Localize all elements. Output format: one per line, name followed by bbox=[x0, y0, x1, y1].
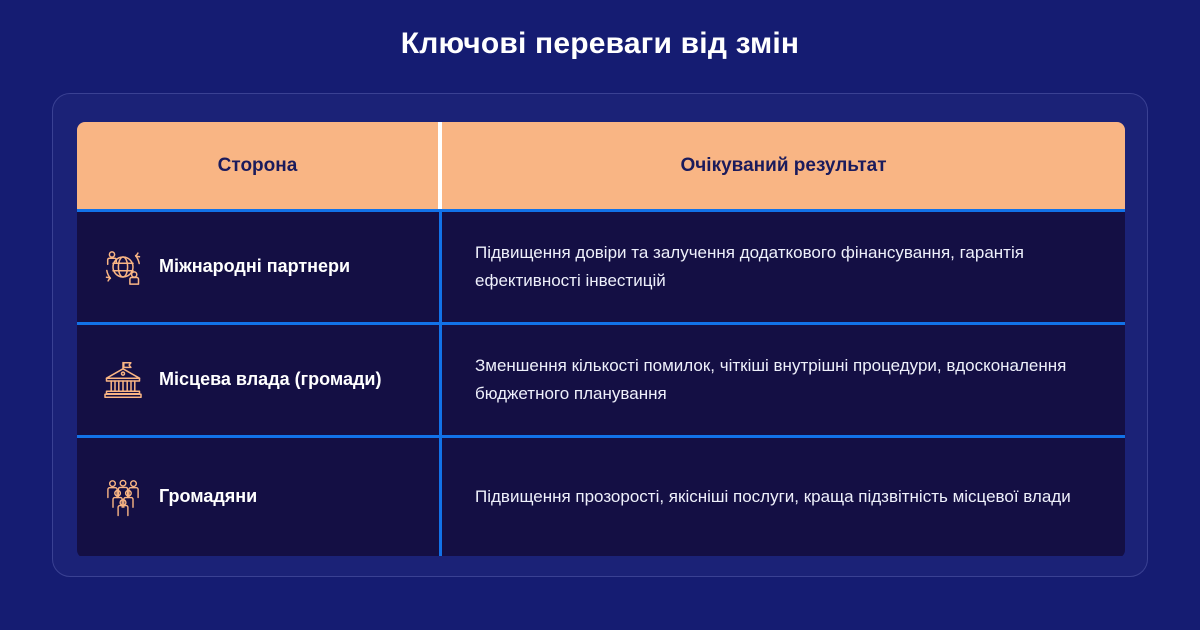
row-result-cell: Зменшення кількості помилок, чіткіші вну… bbox=[442, 325, 1125, 435]
row-side-cell: Міжнародні партнери bbox=[77, 212, 442, 322]
row-side-label: Місцева влада (громади) bbox=[159, 368, 381, 391]
benefits-table: Сторона Очікуваний результат bbox=[77, 122, 1125, 558]
table-row: Місцева влада (громади) Зменшення кілько… bbox=[77, 325, 1125, 438]
column-header-result: Очікуваний результат bbox=[442, 122, 1125, 209]
row-result-text: Підвищення прозорості, якісніші послуги,… bbox=[475, 483, 1071, 511]
row-side-cell: Громадяни bbox=[77, 438, 442, 556]
people-group-icon bbox=[101, 475, 145, 519]
page-title: Ключові переваги від змін bbox=[0, 27, 1200, 61]
row-result-cell: Підвищення прозорості, якісніші послуги,… bbox=[442, 438, 1125, 556]
row-result-text: Зменшення кількості помилок, чіткіші вну… bbox=[475, 352, 1091, 407]
table-header-row: Сторона Очікуваний результат bbox=[77, 122, 1125, 212]
benefits-card: Сторона Очікуваний результат bbox=[52, 93, 1148, 577]
column-header-side: Сторона bbox=[77, 122, 442, 209]
row-result-text: Підвищення довіри та залучення додатково… bbox=[475, 239, 1091, 294]
row-side-cell: Місцева влада (громади) bbox=[77, 325, 442, 435]
row-side-label: Міжнародні партнери bbox=[159, 255, 350, 278]
table-row: Міжнародні партнери Підвищення довіри та… bbox=[77, 212, 1125, 325]
table-row: Громадяни Підвищення прозорості, якісніш… bbox=[77, 438, 1125, 556]
row-result-cell: Підвищення довіри та залучення додатково… bbox=[442, 212, 1125, 322]
row-side-label: Громадяни bbox=[159, 485, 257, 508]
government-building-icon bbox=[101, 358, 145, 402]
globe-partners-icon bbox=[101, 245, 145, 289]
